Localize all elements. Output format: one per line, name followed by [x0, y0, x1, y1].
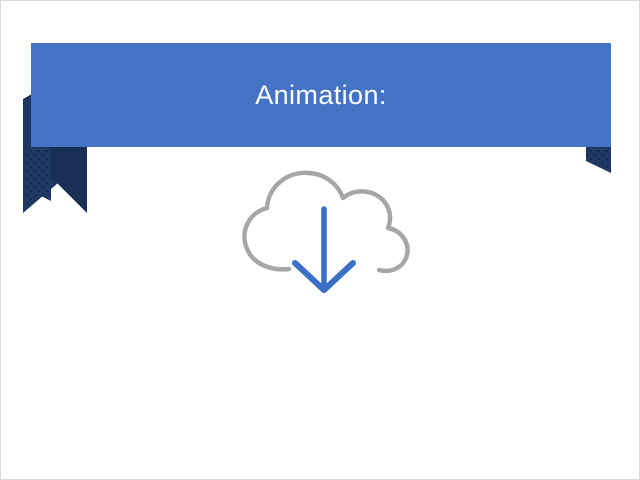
ribbon-left-tail	[23, 147, 87, 213]
ribbon-body	[31, 43, 611, 147]
slide-canvas: Animation:	[0, 0, 640, 480]
download-arrow-icon	[295, 209, 353, 290]
cloud-download-icon	[229, 161, 419, 311]
ribbon-right-tail	[586, 147, 611, 173]
